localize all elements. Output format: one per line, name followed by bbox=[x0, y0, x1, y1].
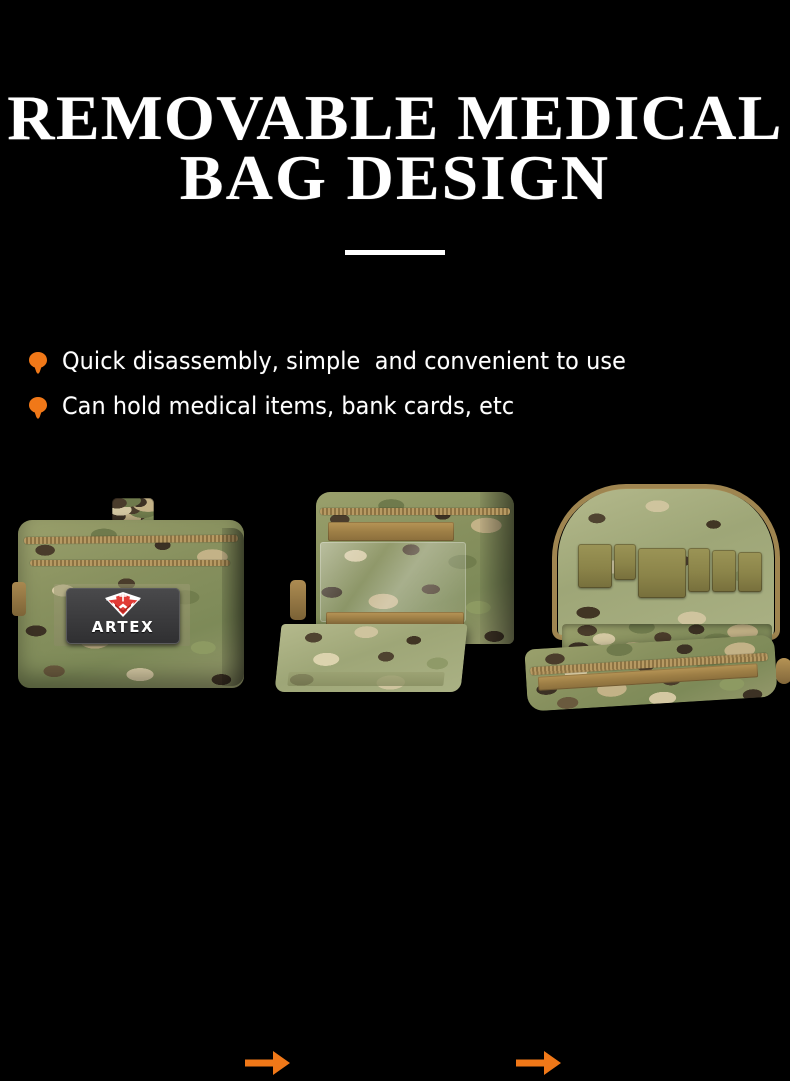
product-image-opened-bag-loops bbox=[522, 482, 790, 714]
page-title-line-2: BAG DESIGN bbox=[0, 148, 790, 208]
elastic-loop bbox=[578, 544, 612, 588]
orange-pin-bullet-icon bbox=[27, 350, 49, 374]
list-item: Quick disassembly, simple and convenient… bbox=[27, 343, 767, 379]
step-arrow-1 bbox=[245, 1050, 290, 1081]
product-image-opened-bag-window bbox=[278, 484, 514, 714]
zipper-pull-left bbox=[290, 580, 306, 620]
product-image-closed-bag: ARTEX bbox=[18, 498, 244, 688]
elastic-loop bbox=[614, 544, 636, 580]
elastic-loop bbox=[688, 548, 710, 592]
elastic-loop bbox=[712, 550, 736, 592]
elastic-loop bbox=[738, 552, 762, 592]
list-item-label: Can hold medical items, bank cards, etc bbox=[62, 392, 514, 420]
orange-pin-bullet-icon bbox=[27, 395, 49, 419]
elastic-loop-organizer bbox=[578, 544, 762, 594]
clear-window-panel bbox=[320, 542, 466, 622]
webbing-strap-top bbox=[328, 522, 454, 541]
artex-eagle-shield-logo bbox=[103, 591, 143, 618]
flap-velcro-strip bbox=[287, 672, 444, 686]
zipper-top bbox=[320, 508, 510, 515]
feature-list: Quick disassembly, simple and convenient… bbox=[27, 343, 767, 433]
zipper-pull-right bbox=[776, 658, 790, 684]
list-item: Can hold medical items, bank cards, etc bbox=[27, 388, 767, 424]
product-step-gallery: ARTEX bbox=[0, 470, 790, 744]
title-divider bbox=[345, 250, 445, 255]
page-title: REMOVABLE MEDICAL BAG DESIGN bbox=[0, 88, 790, 208]
page-title-line-1: REMOVABLE MEDICAL bbox=[0, 88, 790, 148]
elastic-loop bbox=[638, 548, 686, 598]
step-arrow-2 bbox=[516, 1050, 561, 1081]
zipper-front bbox=[30, 560, 230, 566]
list-item-label: Quick disassembly, simple and convenient… bbox=[62, 347, 626, 375]
zipper-pull-left bbox=[12, 582, 26, 616]
bag-side-shadow bbox=[222, 528, 244, 686]
brand-patch: ARTEX bbox=[66, 588, 180, 644]
brand-name: ARTEX bbox=[92, 619, 155, 636]
